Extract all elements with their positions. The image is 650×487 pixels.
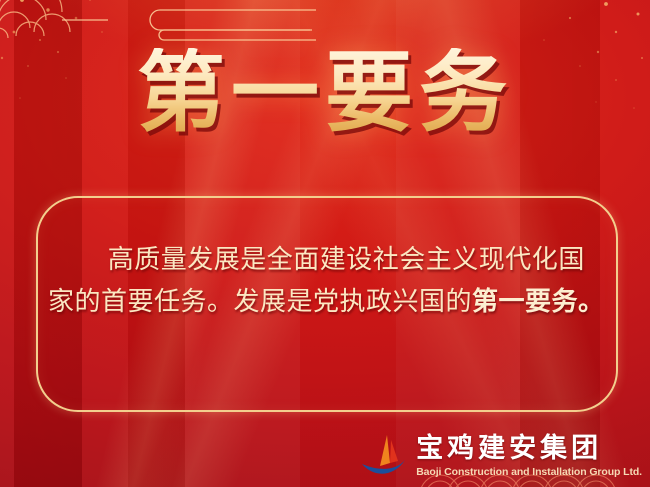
quote-emphasis-first: 第一 bbox=[472, 286, 525, 316]
page-title: 第一要务 bbox=[0, 48, 650, 136]
quote-line-1: 高质量发展是全面建设社会主义现代化 bbox=[108, 244, 559, 274]
logo-text-group: 宝鸡建安集团 Baoji Construction and Installati… bbox=[416, 435, 642, 478]
logo-name-english: Baoji Construction and Installation Grou… bbox=[416, 467, 642, 478]
quote-text-block: 高质量发展是全面建设社会主义现代化国家的首要任务。发展是党执政兴国的第一要务。 bbox=[48, 238, 608, 322]
poster-canvas: 第一要务 高质量发展是全面建设社会主义现代化国家的首要任务。发展是党执政兴国的第… bbox=[0, 0, 650, 487]
company-logo: 宝鸡建安集团 Baoji Construction and Installati… bbox=[360, 433, 642, 479]
quote-emphasis-second: 要务。 bbox=[525, 286, 605, 316]
logo-name-chinese: 宝鸡建安集团 bbox=[416, 435, 642, 462]
sail-logo-mark-icon bbox=[360, 433, 408, 479]
